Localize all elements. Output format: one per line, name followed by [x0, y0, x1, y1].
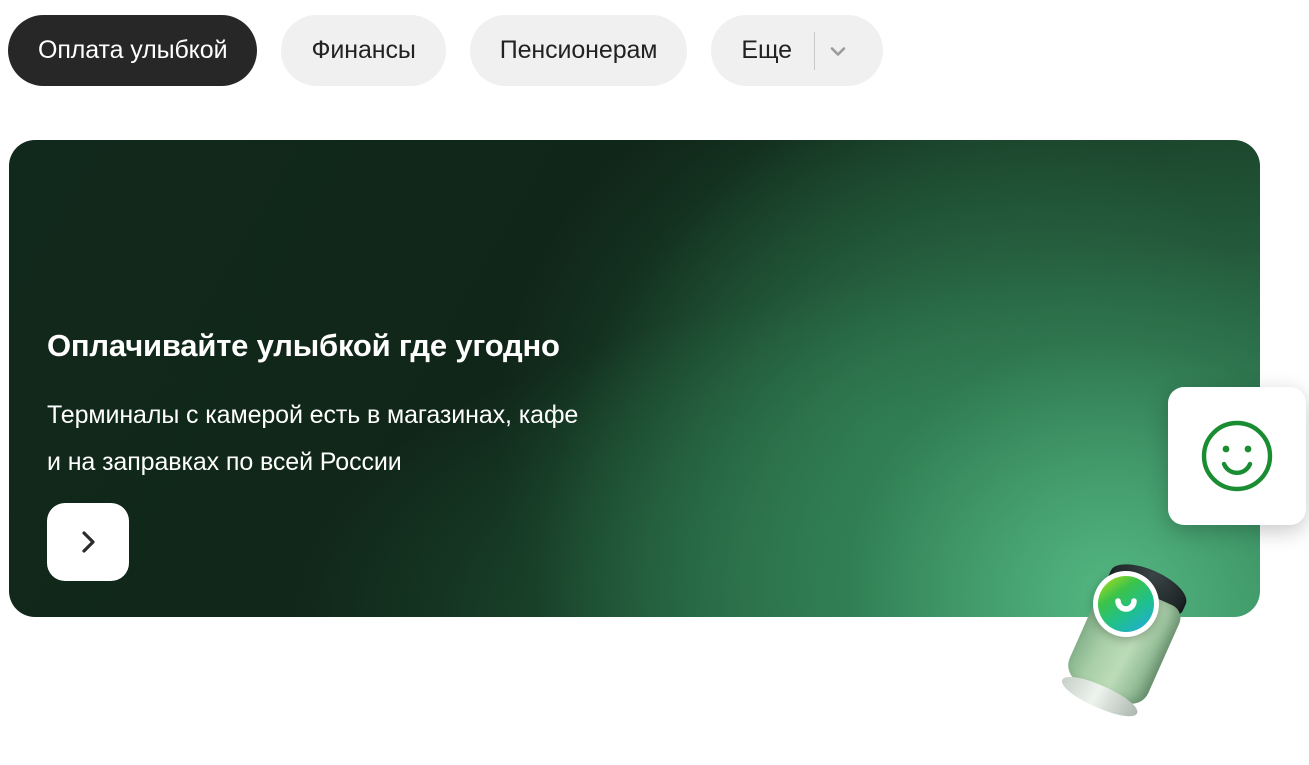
banner-background: [9, 140, 1260, 617]
category-chip-row: Оплата улыбкой Финансы Пенсионерам Еще: [8, 15, 883, 86]
chip-label: Пенсионерам: [500, 36, 658, 65]
chip-oplata-ulybkoy[interactable]: Оплата улыбкой: [8, 15, 257, 86]
chip-pensioneram[interactable]: Пенсионерам: [470, 15, 688, 86]
banner-subtitle-line-1: Терминалы с камерой есть в магазинах, ка…: [47, 392, 578, 439]
chip-more-label: Еще: [741, 36, 814, 65]
chip-finansy[interactable]: Финансы: [281, 15, 445, 86]
terminal-base: [1058, 670, 1142, 723]
chip-label: Оплата улыбкой: [38, 36, 227, 65]
smiley-pay-card[interactable]: [1168, 387, 1306, 525]
promo-banner[interactable]: Оплачивайте улыбкой где угодно Терминалы…: [9, 140, 1260, 617]
banner-title: Оплачивайте улыбкой где угодно: [47, 328, 560, 364]
smiley-face-icon: [1194, 413, 1280, 499]
chevron-down-icon[interactable]: [815, 38, 861, 64]
next-arrow-button[interactable]: [47, 503, 129, 581]
chip-label: Финансы: [311, 36, 415, 65]
banner-subtitle-line-2: и на заправках по всей России: [47, 439, 578, 486]
chip-more[interactable]: Еще: [711, 15, 883, 86]
banner-subtitle: Терминалы с камерой есть в магазинах, ка…: [47, 392, 578, 486]
chevron-right-icon: [71, 525, 105, 559]
